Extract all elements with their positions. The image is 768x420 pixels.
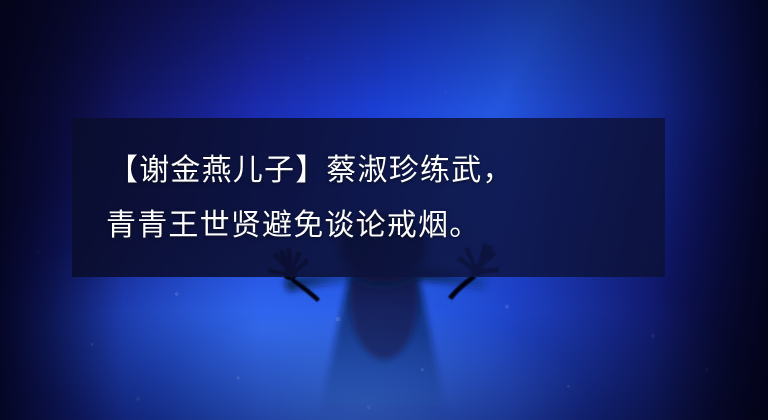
caption-overlay-panel: 【谢金燕儿子】蔡淑珍练武， 青青王世贤避免谈论戒烟。 <box>72 118 665 277</box>
banner-image: 【谢金燕儿子】蔡淑珍练武， 青青王世贤避免谈论戒烟。 <box>0 0 768 420</box>
caption-line-2: 青青王世贤避免谈论戒烟。 <box>106 198 631 253</box>
caption-line-1: 【谢金燕儿子】蔡淑珍练武， <box>106 143 631 198</box>
